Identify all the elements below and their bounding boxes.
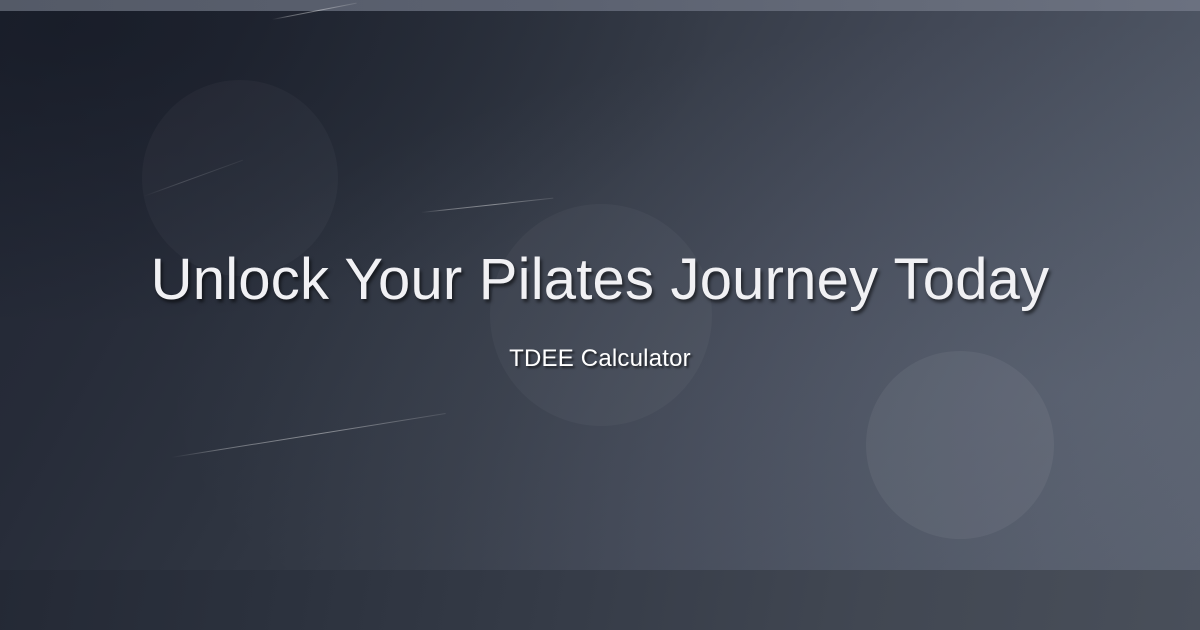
card-title: Unlock Your Pilates Journey Today bbox=[151, 249, 1050, 312]
card-content: Unlock Your Pilates Journey Today TDEE C… bbox=[0, 0, 1200, 630]
og-share-card: Unlock Your Pilates Journey Today TDEE C… bbox=[0, 0, 1200, 630]
card-subtitle: TDEE Calculator bbox=[509, 345, 691, 373]
